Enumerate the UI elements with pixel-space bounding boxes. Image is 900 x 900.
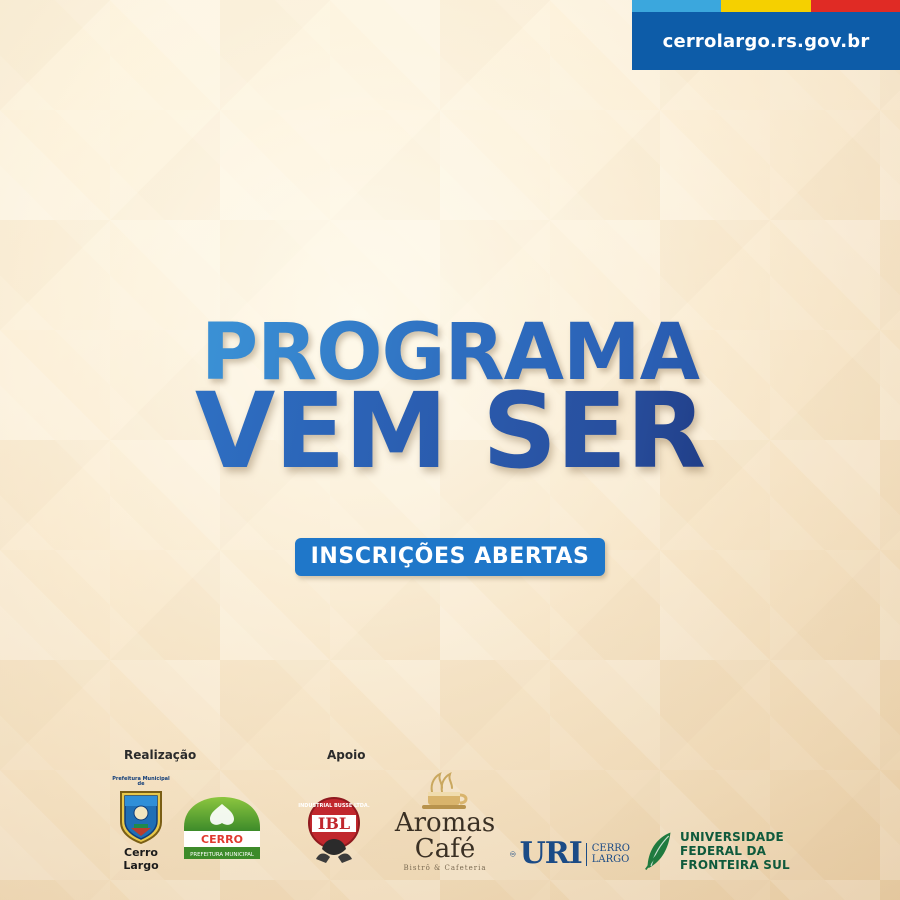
stripe-red [811, 0, 900, 12]
uffs-line3: FRONTEIRA SUL [680, 858, 790, 872]
aromas-cafe-sub: Bistrô & Cafeteria [390, 864, 500, 872]
poster-canvas: cerrolargo.rs.gov.br PROGRAMA VEM SER IN… [0, 0, 900, 900]
realizacao-label: Realização [124, 748, 196, 762]
logo-ibl: IBL INDUSTRIAL BUSSE LTDA. IBL [286, 793, 382, 872]
uri-wordmark: URI [520, 839, 582, 869]
uffs-wordmark: UNIVERSIDADE FEDERAL DA FRONTEIRA SUL [680, 830, 790, 872]
svg-text:PREFEITURA MUNICIPAL: PREFEITURA MUNICIPAL [190, 852, 254, 858]
uri-campus: CERRO LARGO [586, 843, 630, 866]
flag-stripes [632, 0, 900, 12]
brasao-shield-icon [118, 788, 164, 844]
footer-sponsors: Realização Apoio Prefeitura Municipal de [0, 748, 900, 878]
title-line-2: VEM SER [0, 384, 900, 480]
logo-uri: 31 URI CERRO LARGO [510, 836, 630, 872]
status-badge: INSCRIÇÕES ABERTAS [295, 538, 606, 576]
svg-text:31: 31 [511, 852, 515, 856]
brasao-caption-top: Prefeitura Municipal de [110, 777, 172, 787]
logo-brasao-cerro-largo: Prefeitura Municipal de Cerro Largo [110, 777, 172, 872]
uffs-leaf-icon [644, 830, 674, 872]
uri-campus-line1: CERRO [592, 843, 630, 855]
stripe-blue [632, 0, 721, 12]
cerro-largo-marca-text: CERRO LARGO [268, 793, 269, 794]
logo-row: Prefeitura Municipal de Cerro Largo [110, 770, 794, 872]
uffs-line2: FEDERAL DA [680, 844, 790, 858]
apoio-label: Apoio [327, 748, 365, 762]
stripe-yellow [721, 0, 810, 12]
svg-text:IBL: IBL [318, 814, 350, 833]
poster-title: PROGRAMA VEM SER [0, 318, 900, 479]
svg-text:CERRO: CERRO [201, 833, 243, 846]
brasao-city-name: Cerro Largo [110, 846, 172, 872]
uffs-line1: UNIVERSIDADE [680, 830, 790, 844]
ibl-text: IBL [382, 793, 383, 794]
svg-text:INDUSTRIAL BUSSE LTDA.: INDUSTRIAL BUSSE LTDA. [298, 803, 370, 809]
poster-subtitle-wrap: INSCRIÇÕES ABERTAS [0, 538, 900, 576]
government-url-text[interactable]: cerrolargo.rs.gov.br [632, 12, 900, 70]
logo-aromas-cafe: Aromas Café Bistrô & Cafeteria [390, 770, 500, 872]
government-url-bar: cerrolargo.rs.gov.br [632, 0, 900, 70]
logo-cerro-largo-marca: CERRO PREFEITURA MUNICIPAL CERRO LARGO [176, 793, 268, 870]
logo-uffs: UNIVERSIDADE FEDERAL DA FRONTEIRA SUL [644, 830, 794, 872]
uri-anniversary-icon: 31 [510, 836, 516, 872]
aromas-cafe-name: Aromas Café [390, 810, 500, 862]
uri-campus-line2: LARGO [592, 854, 630, 866]
